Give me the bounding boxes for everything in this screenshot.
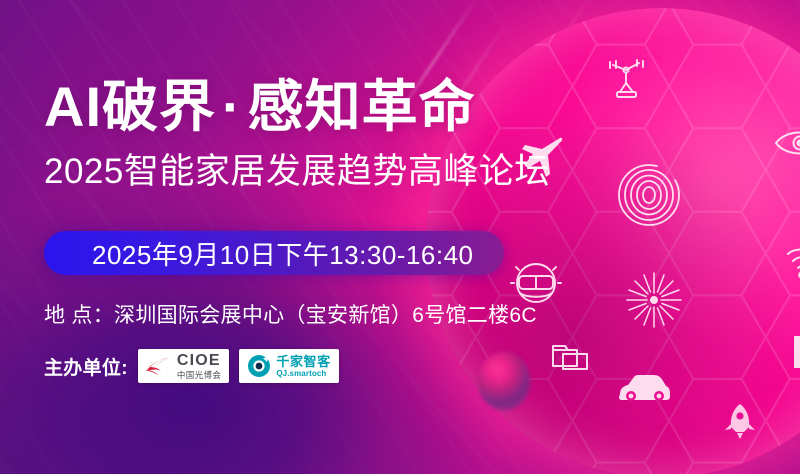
- date-badge-text: 2025年9月10日下午13:30-16:40: [92, 235, 474, 272]
- starburst-icon: [624, 270, 684, 330]
- cioe-name-cn: 中国光博会: [177, 371, 222, 380]
- car-icon: [616, 372, 672, 406]
- headline-block: AI破界·感知革命 2025智能家居发展趋势高峰论坛: [44, 78, 604, 194]
- organizer-row: 主办单位: CIOE 中国光博会 千家智客 QJ.smartoch: [44, 349, 339, 383]
- title-separator: ·: [216, 75, 248, 138]
- radar-target-icon: [616, 162, 682, 228]
- robot-arm-icon: [606, 56, 652, 100]
- eye-icon: [774, 126, 800, 160]
- cioe-name-en: CIOE: [177, 353, 222, 369]
- date-badge: 2025年9月10日下午13:30-16:40: [44, 231, 504, 275]
- promo-banner: IR: [0, 0, 800, 474]
- cioe-swoosh-icon: [146, 355, 172, 377]
- decorative-sphere-accent: [478, 352, 530, 410]
- venue-text: 地 点：深圳国际会展中心（宝安新馆）6号馆二楼6C: [44, 299, 537, 329]
- rocket-icon: [722, 402, 758, 440]
- wifi-signal-icon: [778, 242, 800, 290]
- title-secondary: 感知革命: [248, 75, 476, 138]
- ir-badge-icon: IR: [788, 332, 800, 372]
- organizer-label: 主办单位:: [44, 353, 128, 380]
- qj-name-cn: 千家智客: [276, 355, 330, 368]
- window-folder-icon: [550, 340, 592, 374]
- logo-cioe[interactable]: CIOE 中国光博会: [138, 349, 230, 383]
- logo-qianjia-smartoch[interactable]: 千家智客 QJ.smartoch: [239, 349, 338, 383]
- title-main: AI破界: [44, 75, 216, 138]
- page-title: AI破界·感知革命: [44, 78, 604, 135]
- page-subtitle: 2025智能家居发展趋势高峰论坛: [44, 143, 604, 194]
- qj-circle-icon: [247, 354, 271, 378]
- qj-name-en: QJ.smartoch: [276, 370, 330, 378]
